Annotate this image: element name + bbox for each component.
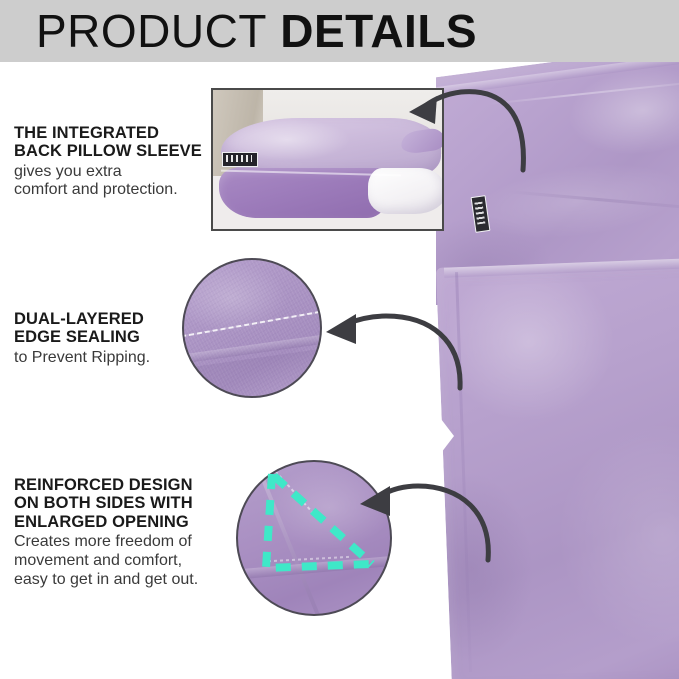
feature-photo-reinforced-corner — [236, 460, 392, 616]
callout-body: gives you extra comfort and protection. — [14, 163, 229, 200]
callout-heading: REINFORCED DESIGN ON BOTH SIDES WITH ENL… — [14, 476, 242, 531]
callout-body: Creates more freedom of movement and com… — [14, 533, 242, 589]
product-details-infographic: PRODUCT DETAILS — [0, 0, 679, 679]
callout-heading: THE INTEGRATED BACK PILLOW SLEEVE — [14, 124, 229, 161]
fabric-corner-notch — [430, 402, 454, 470]
callout-body: to Prevent Ripping. — [14, 349, 204, 368]
fabric-surface — [436, 256, 679, 679]
page-title: PRODUCT DETAILS — [36, 2, 477, 60]
callout-heading: DUAL-LAYERED EDGE SEALING — [14, 310, 204, 347]
product-photo-lower-panel — [430, 252, 679, 679]
pillow-sleeve-lower — [219, 168, 391, 218]
callout-edge-sealing: DUAL-LAYERED EDGE SEALING to Prevent Rip… — [14, 310, 204, 367]
page-title-light: PRODUCT — [36, 5, 267, 57]
callout-back-pillow-sleeve: THE INTEGRATED BACK PILLOW SLEEVE gives … — [14, 124, 229, 200]
page-title-bold: DETAILS — [280, 5, 477, 57]
callout-reinforced-design: REINFORCED DESIGN ON BOTH SIDES WITH ENL… — [14, 476, 242, 589]
